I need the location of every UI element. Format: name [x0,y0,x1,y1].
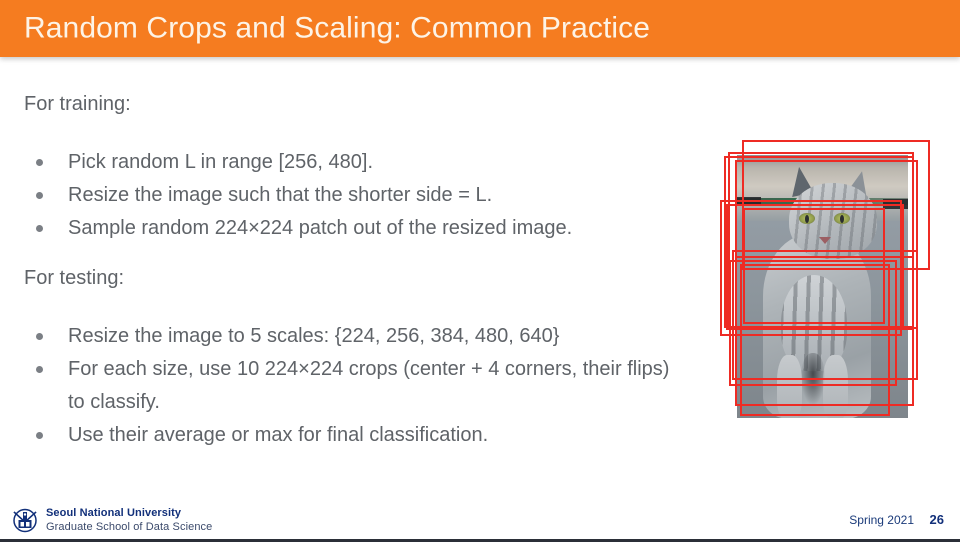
footer-school-name: Graduate School of Data Science [46,521,212,533]
footer-university-name: Seoul National University [46,507,181,519]
bullet-dot-icon [36,159,43,166]
footer-term: Spring 2021 [849,513,914,527]
training-bullet-list: Pick random L in range [256, 480]. Resiz… [24,146,684,245]
bullet-dot-icon [36,192,43,199]
list-item: Pick random L in range [256, 480]. [24,146,684,179]
list-item: Resize the image such that the shorter s… [24,179,684,212]
snu-emblem-icon [10,505,40,535]
page-title: Random Crops and Scaling: Common Practic… [24,11,650,45]
bullet-dot-icon [36,333,43,340]
list-item: For each size, use 10 224×224 crops (cen… [24,353,684,419]
slide-body: For training: Pick random L in range [25… [0,60,700,480]
page-number: 26 [930,512,944,527]
bullet-dot-icon [36,432,43,439]
testing-section-label: For testing: [24,267,124,290]
list-item-text: For each size, use 10 224×224 crops (cen… [68,353,684,419]
list-item: Resize the image to 5 scales: {224, 256,… [24,320,684,353]
testing-bullet-list: Resize the image to 5 scales: {224, 256,… [24,320,684,452]
list-item: Sample random 224×224 patch out of the r… [24,212,684,245]
list-item-text: Pick random L in range [256, 480]. [68,146,684,179]
list-item: Use their average or max for final class… [24,419,684,452]
list-item-text: Use their average or max for final class… [68,419,684,452]
list-item-text: Resize the image to 5 scales: {224, 256,… [68,320,684,353]
training-section-label: For training: [24,93,131,116]
cat-crop-figure [712,138,942,430]
list-item-text: Sample random 224×224 patch out of the r… [68,212,684,245]
slide-title-bar: Random Crops and Scaling: Common Practic… [0,0,960,57]
slide-root: Random Crops and Scaling: Common Practic… [0,0,960,542]
list-item-text: Resize the image such that the shorter s… [68,179,684,212]
bullet-dot-icon [36,225,43,232]
bullet-dot-icon [36,366,43,373]
crop-box [740,264,890,416]
